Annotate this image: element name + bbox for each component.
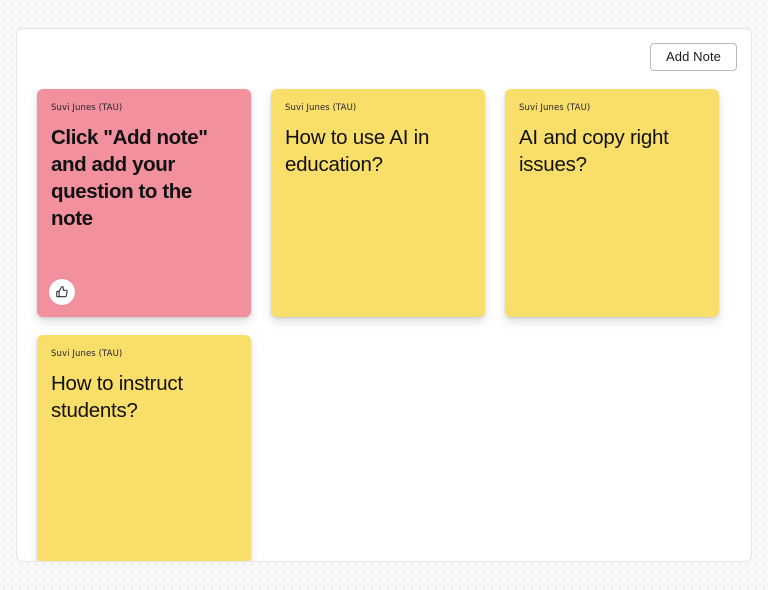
add-note-button[interactable]: Add Note [650,43,737,71]
note-card[interactable]: Suvi Junes (TAU) Click "Add note" and ad… [37,89,251,317]
note-card[interactable]: Suvi Junes (TAU) How to instruct student… [37,335,251,562]
note-text: Click "Add note" and add your question t… [51,124,237,232]
thumbs-up-icon [55,285,69,299]
note-author: Suvi Junes (TAU) [519,104,705,113]
note-text: How to use AI in education? [285,124,471,178]
note-text: How to instruct students? [51,370,237,424]
notes-grid: Suvi Junes (TAU) Click "Add note" and ad… [37,89,739,562]
thumbs-up-reaction-button[interactable] [49,279,75,305]
note-author: Suvi Junes (TAU) [51,350,237,359]
board-toolbar: Add Note [650,43,737,71]
note-author: Suvi Junes (TAU) [51,104,237,113]
note-text: AI and copy right issues? [519,124,705,178]
note-card[interactable]: Suvi Junes (TAU) AI and copy right issue… [505,89,719,317]
note-author: Suvi Junes (TAU) [285,104,471,113]
note-board-panel: Add Note Suvi Junes (TAU) Click "Add not… [16,28,752,562]
note-card[interactable]: Suvi Junes (TAU) How to use AI in educat… [271,89,485,317]
